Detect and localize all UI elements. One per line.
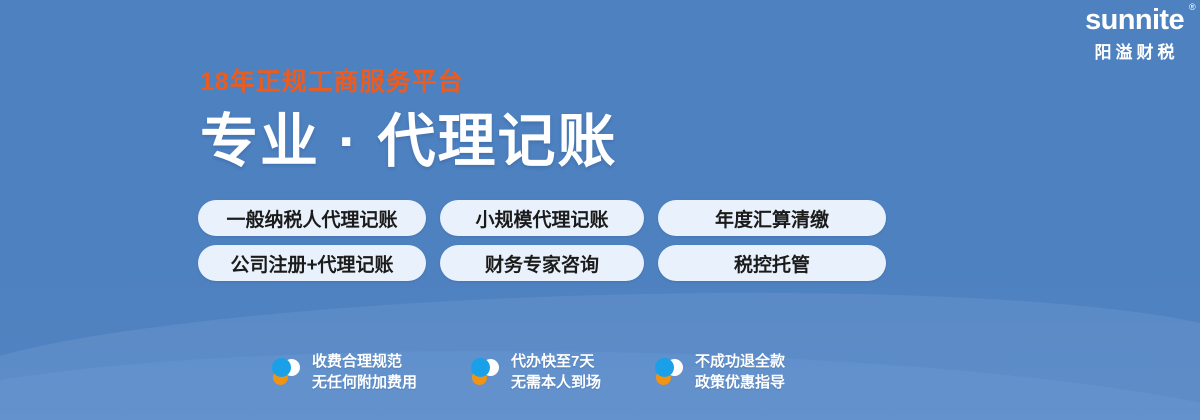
service-pill-general-taxpayer[interactable]: 一般纳税人代理记账 xyxy=(198,200,426,236)
service-pill-expert-consulting[interactable]: 财务专家咨询 xyxy=(440,245,644,281)
page-title: 专业 · 代理记账 xyxy=(200,113,618,171)
service-pill-tax-control-hosting[interactable]: 税控托管 xyxy=(658,245,886,281)
registered-trademark-icon: ® xyxy=(1189,3,1195,12)
blue-orange-dot-icon xyxy=(272,356,300,388)
service-pill-annual-settlement[interactable]: 年度汇算清缴 xyxy=(658,200,886,236)
feature-line-2: 无需本人到场 xyxy=(511,374,601,391)
service-pill-row: 一般纳税人代理记账 小规模代理记账 年度汇算清缴 xyxy=(198,200,886,236)
feature-line-1: 代办快至7天 xyxy=(511,353,594,370)
feature-text-pricing: 收费合理规范 无任何附加费用 xyxy=(312,351,417,394)
feature-text-speed: 代办快至7天 无需本人到场 xyxy=(511,351,601,394)
feature-item-guarantee: 不成功退全款 政策优惠指导 xyxy=(655,351,785,394)
promo-banner: sunnite® 阳溢财税 18年正规工商服务平台 专业 · 代理记账 一般纳税… xyxy=(0,0,1200,420)
feature-line-1: 不成功退全款 xyxy=(695,353,785,370)
brand-logo[interactable]: sunnite® 阳溢财税 xyxy=(1085,6,1184,61)
service-pill-company-registration[interactable]: 公司注册+代理记账 xyxy=(198,245,426,281)
brand-logo-wordmark: sunnite® xyxy=(1085,6,1184,35)
service-pill-group: 一般纳税人代理记账 小规模代理记账 年度汇算清缴 公司注册+代理记账 财务专家咨… xyxy=(198,200,886,281)
hero-eyebrow: 18年正规工商服务平台 xyxy=(200,70,618,95)
feature-line-2: 政策优惠指导 xyxy=(695,374,785,391)
blue-orange-dot-icon xyxy=(655,356,683,388)
brand-logo-chinese-name: 阳溢财税 xyxy=(1085,44,1184,61)
service-pill-row: 公司注册+代理记账 财务专家咨询 税控托管 xyxy=(198,245,886,281)
background-band-upper xyxy=(0,277,1200,420)
feature-line-1: 收费合理规范 xyxy=(312,353,402,370)
feature-line-2: 无任何附加费用 xyxy=(312,374,417,391)
feature-text-guarantee: 不成功退全款 政策优惠指导 xyxy=(695,351,785,394)
feature-strip: 收费合理规范 无任何附加费用 代办快至7天 无需本人到场 不成功退全款 政策优惠… xyxy=(272,351,785,394)
service-pill-small-scale[interactable]: 小规模代理记账 xyxy=(440,200,644,236)
feature-item-speed: 代办快至7天 无需本人到场 xyxy=(471,351,601,394)
hero-copy: 18年正规工商服务平台 专业 · 代理记账 xyxy=(200,70,618,171)
feature-item-pricing: 收费合理规范 无任何附加费用 xyxy=(272,351,417,394)
blue-orange-dot-icon xyxy=(471,356,499,388)
